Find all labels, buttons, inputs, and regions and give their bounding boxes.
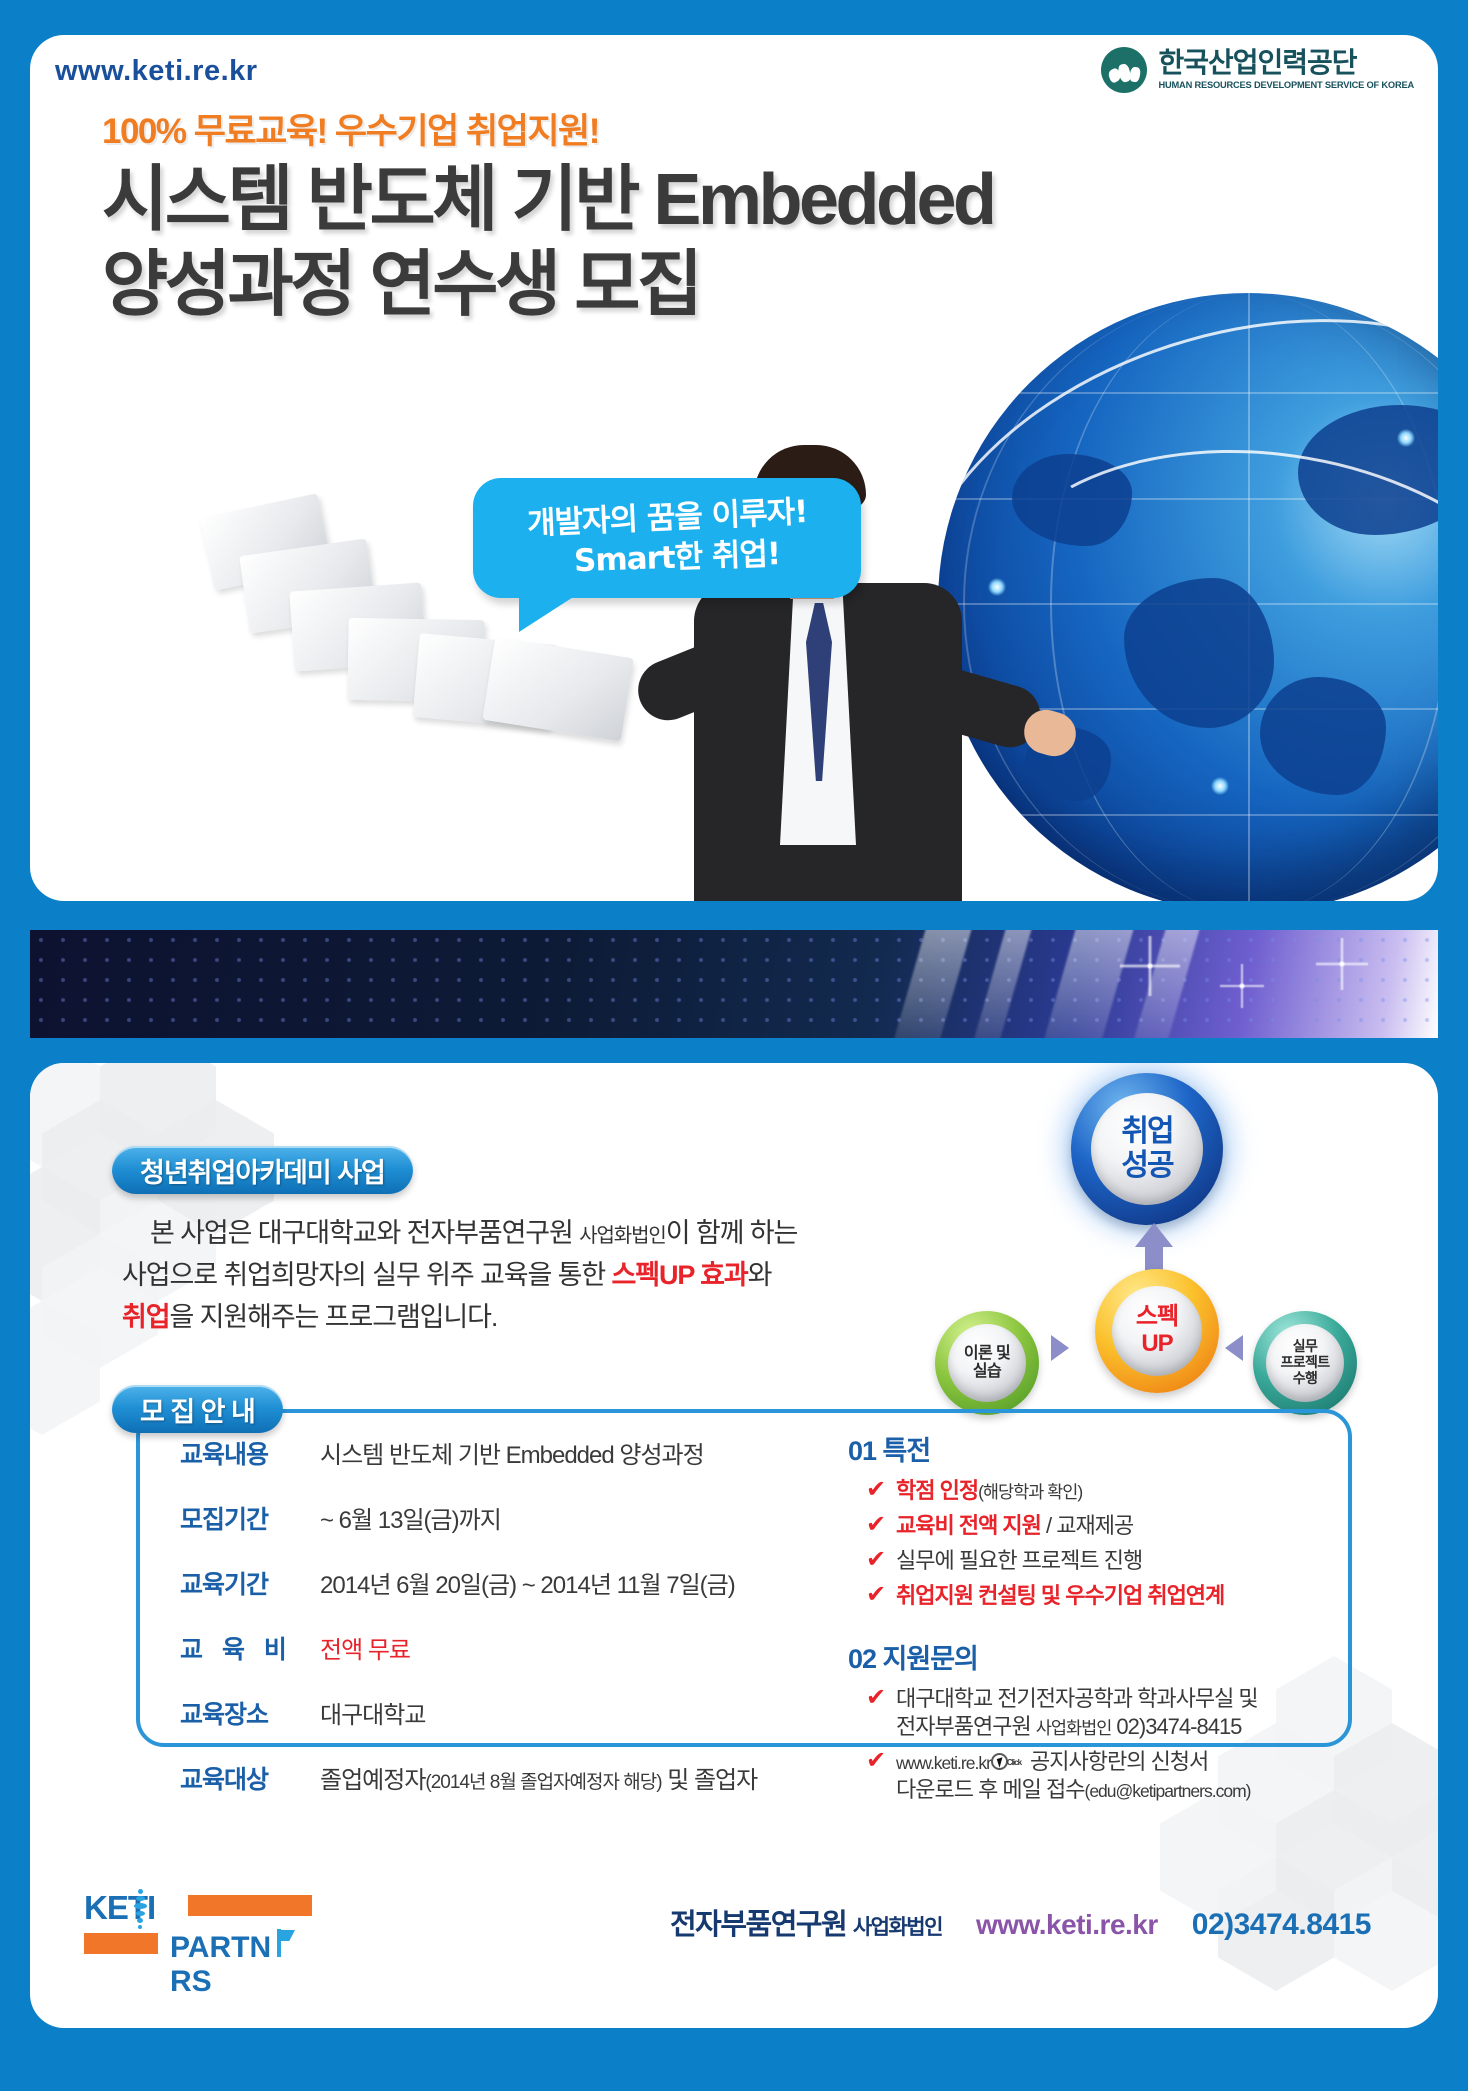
contact-phone: 02)3474-8415 (1111, 1714, 1241, 1739)
detail-value-fee: 전액 무료 (320, 1630, 410, 1665)
detail-row-eligibility: 교육대상 졸업예정자(2014년 8월 졸업자예정자 해당) 및 졸업자 (180, 1760, 800, 1796)
feature-item: ✔ 교육비 전액 지원 / 교재제공 (848, 1512, 1368, 1540)
contact-email: (edu@ketipartners.com) (1085, 1781, 1251, 1801)
recruit-pill-label: 모 집 안 내 (112, 1385, 283, 1433)
detail-row-location: 교육장소 대구대학교 (180, 1695, 800, 1731)
intro-pill-label: 청년취업아카데미 사업 (112, 1146, 413, 1194)
diagram-orb-field-project: 실무 프로젝트 수행 (1253, 1311, 1357, 1415)
hero-card: www.keti.re.kr 한국산업인력공단 HUMAN RESOURCES … (30, 35, 1438, 901)
hrd-korean-name: 한국산업인력공단 (1158, 49, 1414, 77)
footer-url[interactable]: www.keti.re.kr (976, 1909, 1158, 1941)
intro-line2-highlight: 스펙UP 효과 (611, 1260, 747, 1290)
detail-key-location: 교육장소 (180, 1695, 320, 1731)
feature-item: ✔ 학점 인정(해당학과 확인) (848, 1477, 1368, 1505)
detail-key-training-period: 교육기간 (180, 1565, 320, 1601)
flag-icon (277, 1929, 295, 1957)
detail-row-application-period: 모집기간 ~ 6월 13일(금)까지 (180, 1500, 800, 1536)
detail-value-training-period: 2014년 6월 20일(금) ~ 2014년 11월 7일(금) (320, 1565, 735, 1600)
arrow-up-stem (1145, 1245, 1163, 1271)
details-card: 청년취업아카데미 사업 본 사업은 대구대학교와 전자부품연구원 사업화법인이 … (30, 1063, 1438, 2028)
feature-item: ✔ 실무에 필요한 프로젝트 진행 (848, 1547, 1368, 1575)
site-url-text: www.keti.re.kr (55, 55, 258, 88)
orb-success-line1: 취업 (1121, 1115, 1172, 1149)
orb-success-line2: 성공 (1121, 1149, 1172, 1183)
intro-line1-small: 사업화법인 (579, 1225, 666, 1247)
detail-value-content: 시스템 반도체 기반 Embedded 양성과정 (320, 1435, 704, 1470)
orb-theory-line2: 실습 (964, 1363, 1010, 1381)
intro-line3-highlight: 취업 (122, 1302, 169, 1332)
orb-project-line1: 실무 (1280, 1339, 1329, 1355)
hrd-korea-logo: 한국산업인력공단 HUMAN RESOURCES DEVELOPMENT SER… (1101, 47, 1414, 93)
contact-item: ✔ 대구대학교 전기전자공학과 학과사무실 및 전자부품연구원 사업화법인 02… (848, 1685, 1368, 1741)
features-heading-benefits: 01 특전 (848, 1429, 1368, 1468)
check-icon: ✔ (866, 1477, 886, 1503)
arrow-up-icon (1135, 1223, 1173, 1247)
recruit-section-pill: 모 집 안 내 (112, 1385, 283, 1433)
detail-key-content: 교육내용 (180, 1435, 320, 1471)
footer-phone: 02)3474.8415 (1192, 1908, 1371, 1942)
footer-contact-bar: 전자부품연구원 사업화법인 www.keti.re.kr 02)3474.841… (670, 1901, 1371, 1943)
detail-value-application-period: ~ 6월 13일(금)까지 (320, 1500, 501, 1535)
check-icon: ✔ (866, 1685, 886, 1711)
recruit-detail-list: 교육내용 시스템 반도체 기반 Embedded 양성과정 모집기간 ~ 6월 … (180, 1435, 800, 1825)
detail-key-fee: 교 육 비 (180, 1630, 320, 1666)
detail-row-fee: 교 육 비 전액 무료 (180, 1630, 800, 1666)
check-icon: ✔ (866, 1582, 886, 1608)
features-column: 01 특전 ✔ 학점 인정(해당학과 확인) ✔ 교육비 전액 지원 / 교재제… (848, 1429, 1368, 1811)
check-icon: ✔ (866, 1748, 886, 1774)
process-diagram: 취업 성공 스펙 UP 이론 및 실습 (935, 1073, 1365, 1413)
intro-paragraph: 본 사업은 대구대학교와 전자부품연구원 사업화법인이 함께 하는 사업으로 취… (122, 1213, 822, 1339)
detail-row-training-period: 교육기간 2014년 6월 20일(금) ~ 2014년 11월 7일(금) (180, 1565, 800, 1601)
decorative-banner-strip (30, 930, 1438, 1038)
orb-theory-line1: 이론 및 (964, 1345, 1010, 1363)
diagram-orb-theory-practice: 이론 및 실습 (935, 1311, 1039, 1415)
intro-line3-b: 을 지원해주는 프로그램입니다. (169, 1302, 497, 1332)
keti-partners-logo: KETI PARTNRS (84, 1883, 304, 1969)
diagram-orb-spec-up: 스펙 UP (1095, 1269, 1219, 1393)
hrd-english-name: HUMAN RESOURCES DEVELOPMENT SERVICE OF K… (1158, 81, 1414, 90)
orb-spec-line1: 스펙 (1136, 1304, 1178, 1331)
footer-org-name: 전자부품연구원 사업화법인 (670, 1901, 942, 1943)
feature-item: ✔ 취업지원 컨설팅 및 우수기업 취업연계 (848, 1582, 1368, 1610)
check-icon: ✔ (866, 1547, 886, 1573)
intro-section-pill: 청년취업아카데미 사업 (112, 1146, 413, 1194)
orb-project-line3: 수행 (1280, 1371, 1329, 1387)
detail-row-content: 교육내용 시스템 반도체 기반 Embedded 양성과정 (180, 1435, 800, 1471)
detail-value-location: 대구대학교 (320, 1695, 425, 1730)
contact-line1: 대구대학교 전기전자공학과 학과사무실 및 (896, 1686, 1258, 1711)
detail-key-application-period: 모집기간 (180, 1500, 320, 1536)
intro-line2-a: 사업으로 취업희망자의 실무 위주 교육을 통한 (122, 1260, 611, 1290)
detail-value-eligibility: 졸업예정자(2014년 8월 졸업자예정자 해당) 및 졸업자 (320, 1760, 757, 1795)
detail-key-eligibility: 교육대상 (180, 1760, 320, 1796)
intro-line1-a: 본 사업은 대구대학교와 전자부품연구원 (150, 1218, 579, 1248)
speech-bubble: 개발자의 꿈을 이루자! Smart한 취업! (473, 478, 861, 598)
features-heading-contact: 02 지원문의 (848, 1637, 1368, 1676)
orb-project-line2: 프로젝트 (1280, 1355, 1329, 1371)
contact-item: ✔ www.keti.re.krClick 공지사항란의 신청서 다운로드 후 … (848, 1748, 1368, 1804)
arrow-left-icon (1225, 1335, 1243, 1361)
headline-block: 100% 무료교육! 우수기업 취업지원! 시스템 반도체 기반 Embedde… (102, 103, 993, 328)
check-icon: ✔ (866, 1512, 886, 1538)
contact-website-url[interactable]: www.keti.re.kr (896, 1753, 991, 1773)
headline-title-line1: 시스템 반도체 기반 Embedded (102, 158, 993, 243)
orb-spec-line2: UP (1136, 1331, 1178, 1358)
hrd-korea-mark-icon (1101, 47, 1147, 93)
intro-line1-b: 이 함께 하는 (666, 1218, 798, 1248)
headline-kicker: 100% 무료교육! 우수기업 취업지원! (102, 103, 993, 154)
speech-bubble-line2: Smart한 취업! (573, 534, 780, 581)
diagram-orb-employment-success: 취업 성공 (1071, 1073, 1223, 1225)
headline-title-line2: 양성과정 연수생 모집 (102, 243, 993, 328)
magnifier-click-icon: Click (991, 1756, 1025, 1772)
intro-line2-b: 와 (748, 1260, 772, 1290)
arrow-right-icon (1051, 1335, 1069, 1361)
